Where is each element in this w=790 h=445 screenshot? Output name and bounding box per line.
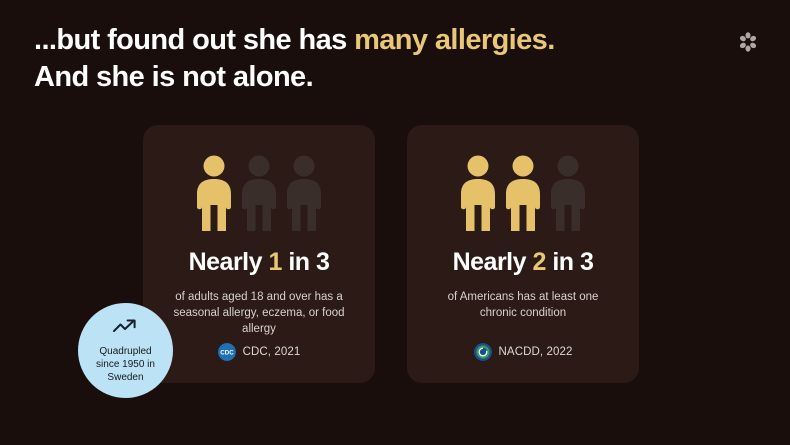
- people-figure-group-left: [157, 147, 361, 231]
- page-title: ...but found out she has many allergies.…: [34, 22, 694, 96]
- slide-root: ...but found out she has many allergies.…: [0, 0, 790, 445]
- person-icon-muted: [283, 155, 325, 231]
- stat-card-chronic: Nearly 2 in 3 of Americans has at least …: [407, 125, 639, 383]
- headline-line-2: And she is not alone.: [34, 59, 694, 96]
- person-icon-filled: [193, 155, 235, 231]
- stat-number: 1: [268, 248, 281, 276]
- stat-suffix: in 3: [546, 248, 594, 276]
- person-icon-muted: [238, 155, 280, 231]
- stat-card-group: Nearly 1 in 3 of adults aged 18 and over…: [143, 125, 639, 383]
- headline-accent-text: many allergies.: [354, 24, 555, 56]
- stat-prefix: Nearly: [453, 248, 533, 276]
- stat-number: 2: [532, 248, 545, 276]
- stat-description-right: of Americans has at least one chronic co…: [421, 289, 625, 321]
- flower-icon: [737, 31, 759, 53]
- person-icon-muted: [547, 155, 589, 231]
- trending-up-icon: [112, 318, 140, 340]
- stat-headline-left: Nearly 1 in 3: [157, 250, 361, 275]
- source-attribution-right: NACDD, 2022: [407, 343, 639, 361]
- badge-label: Quadrupled since 1950 in Sweden: [78, 345, 173, 384]
- cdc-logo-icon: CDC: [218, 343, 236, 361]
- stat-description-left: of adults aged 18 and over has a seasona…: [157, 289, 361, 337]
- stat-suffix: in 3: [282, 248, 330, 276]
- source-attribution-left: CDC CDC, 2021: [143, 343, 375, 361]
- nacdd-logo-icon: [474, 343, 492, 361]
- source-label-right: NACDD, 2022: [499, 346, 573, 358]
- person-icon-filled: [457, 155, 499, 231]
- stat-prefix: Nearly: [189, 248, 269, 276]
- headline-line-1: ...but found out she has many allergies.: [34, 22, 694, 59]
- status-badge: Quadrupled since 1950 in Sweden: [78, 303, 173, 398]
- person-icon-filled: [502, 155, 544, 231]
- headline-line-1-prefix: ...but found out she has: [34, 24, 354, 56]
- source-label-left: CDC, 2021: [243, 346, 301, 358]
- svg-text:CDC: CDC: [220, 350, 234, 357]
- stat-headline-right: Nearly 2 in 3: [421, 250, 625, 275]
- people-figure-group-right: [421, 147, 625, 231]
- stat-card-allergy: Nearly 1 in 3 of adults aged 18 and over…: [143, 125, 375, 383]
